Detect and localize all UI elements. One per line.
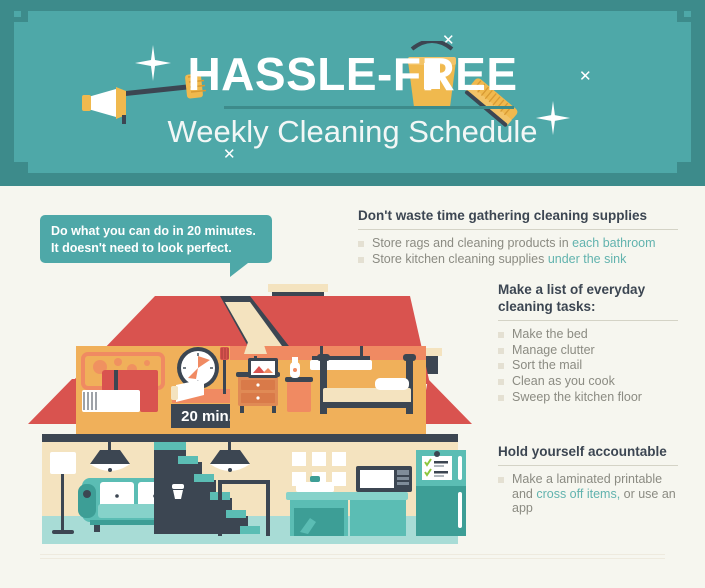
- tip-speech-bubble: Do what you can do in 20 minutes. It doe…: [40, 215, 272, 263]
- list-item: Manage clutter: [498, 343, 678, 358]
- speech-bubble-tail-icon: [230, 263, 248, 277]
- list-item: Clean as you cook: [498, 374, 678, 389]
- content-area: Do what you can do in 20 minutes. It doe…: [0, 186, 705, 588]
- supplies-item-0-highlight[interactable]: each bathroom: [572, 236, 655, 250]
- supplies-divider: [358, 229, 678, 230]
- corner-notch-top-left-inner: [14, 11, 21, 17]
- x-mark-icon: ✕: [223, 147, 236, 162]
- section-tasks: Make a list of everyday cleaning tasks: …: [498, 282, 678, 406]
- bed-mattress: [323, 388, 411, 404]
- tasks-heading: Make a list of everyday cleaning tasks:: [498, 282, 678, 320]
- accountable-list: Make a laminated printable and cross off…: [498, 472, 678, 516]
- pillow: [375, 378, 409, 390]
- footer-divider-1: [40, 554, 665, 555]
- supplies-list: Store rags and cleaning products in each…: [358, 236, 678, 267]
- supplies-item-1-text: Store kitchen cleaning supplies: [372, 252, 548, 266]
- page-subtitle: Weekly Cleaning Schedule: [14, 115, 691, 149]
- cutaway-house-illustration: 20 min.: [20, 284, 480, 544]
- list-item: Store kitchen cleaning supplies under th…: [358, 252, 678, 267]
- left-gable-roof: [28, 379, 80, 424]
- tasks-divider: [498, 320, 678, 321]
- list-item: Sweep the kitchen floor: [498, 390, 678, 405]
- timer-badge-label: 20 min.: [181, 408, 233, 425]
- corner-notch-top-right-inner: [684, 11, 691, 17]
- corner-notch-bottom-right: [677, 162, 691, 173]
- title-divider: [224, 106, 514, 109]
- refrigerator: [416, 450, 466, 536]
- list-item: Make a laminated printable and cross off…: [498, 472, 678, 516]
- tip-line-1: Do what you can do in 20 minutes.: [51, 223, 261, 240]
- list-item: Store rags and cleaning products in each…: [358, 236, 678, 251]
- list-item: Make the bed: [498, 327, 678, 342]
- section-accountable: Hold yourself accountable Make a laminat…: [498, 444, 678, 517]
- floor-slab: [42, 434, 458, 442]
- supplies-heading: Don't waste time gathering cleaning supp…: [358, 208, 678, 229]
- microwave: [356, 466, 412, 492]
- supplies-item-1-highlight[interactable]: under the sink: [548, 252, 627, 266]
- header-banner: ✕ ✕ ✕: [0, 0, 705, 186]
- accountable-heading: Hold yourself accountable: [498, 444, 678, 465]
- accountable-divider: [498, 465, 678, 466]
- right-gable-roof: [420, 379, 472, 424]
- list-item: Sort the mail: [498, 358, 678, 373]
- corner-notch-bottom-left: [14, 162, 28, 173]
- page-title: HASSLE-FREE: [14, 51, 691, 97]
- tip-line-2: It doesn't need to look perfect.: [51, 240, 261, 257]
- section-supplies: Don't waste time gathering cleaning supp…: [358, 208, 678, 267]
- header-inner-panel: ✕ ✕ ✕: [14, 11, 691, 173]
- footer-divider-2: [40, 558, 665, 559]
- floor-lamp: [50, 452, 76, 474]
- tasks-list: Make the bed Manage clutter Sort the mai…: [498, 327, 678, 405]
- accountable-item-0-highlight[interactable]: cross off items,: [536, 487, 620, 501]
- supplies-item-0-text: Store rags and cleaning products in: [372, 236, 572, 250]
